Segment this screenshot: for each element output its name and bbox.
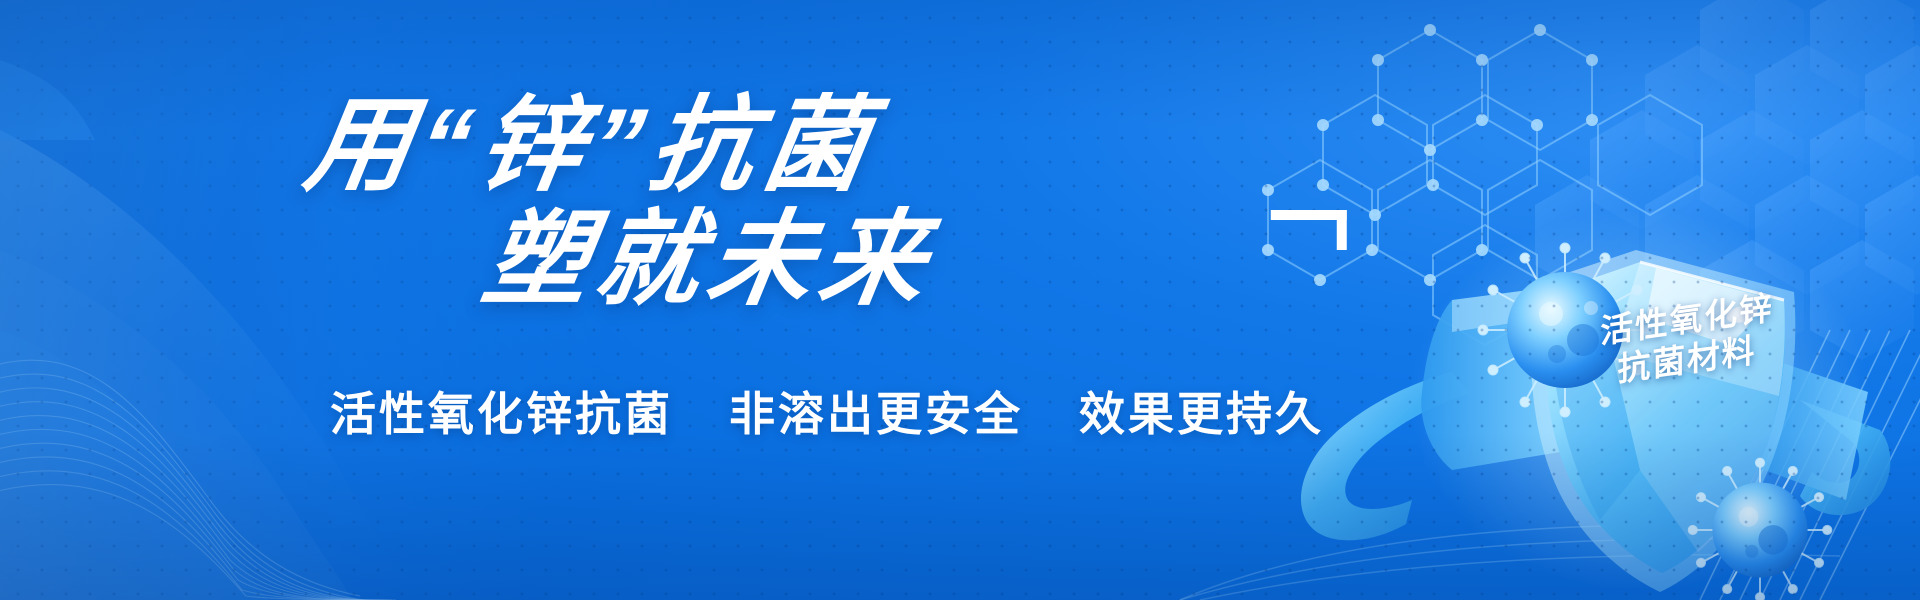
badge-text-block: 活性氧化锌 抗菌材料 bbox=[1583, 285, 1791, 396]
promotional-banner: 用“锌”抗菌 塑就未来 活性氧化锌抗菌 非溶出更安全 效果更持久 活性氧化锌 抗… bbox=[0, 0, 1920, 600]
shield-badge-wrap: 活性氧化锌 抗菌材料 bbox=[1446, 214, 1846, 574]
subtitle-block: 活性氧化锌抗菌 非溶出更安全 效果更持久 bbox=[330, 378, 1324, 444]
subtitle-item-1: 活性氧化锌抗菌 bbox=[330, 378, 673, 444]
badge-line-1: 活性氧化锌 bbox=[1583, 285, 1791, 355]
subtitle-item-2: 非溶出更安全 bbox=[729, 378, 1023, 444]
headline-line-2-text: 塑就未来 bbox=[476, 202, 942, 318]
subtitle-item-3: 效果更持久 bbox=[1079, 378, 1324, 444]
badge-line-2: 抗菌材料 bbox=[1583, 326, 1791, 396]
headline-line-2: 塑就未来 bbox=[119, 206, 1298, 314]
corner-bracket-icon bbox=[1271, 210, 1347, 250]
headline-line-1: 用“锌”抗菌 bbox=[0, 92, 1299, 200]
headline-block: 用“锌”抗菌 塑就未来 bbox=[0, 92, 1290, 314]
